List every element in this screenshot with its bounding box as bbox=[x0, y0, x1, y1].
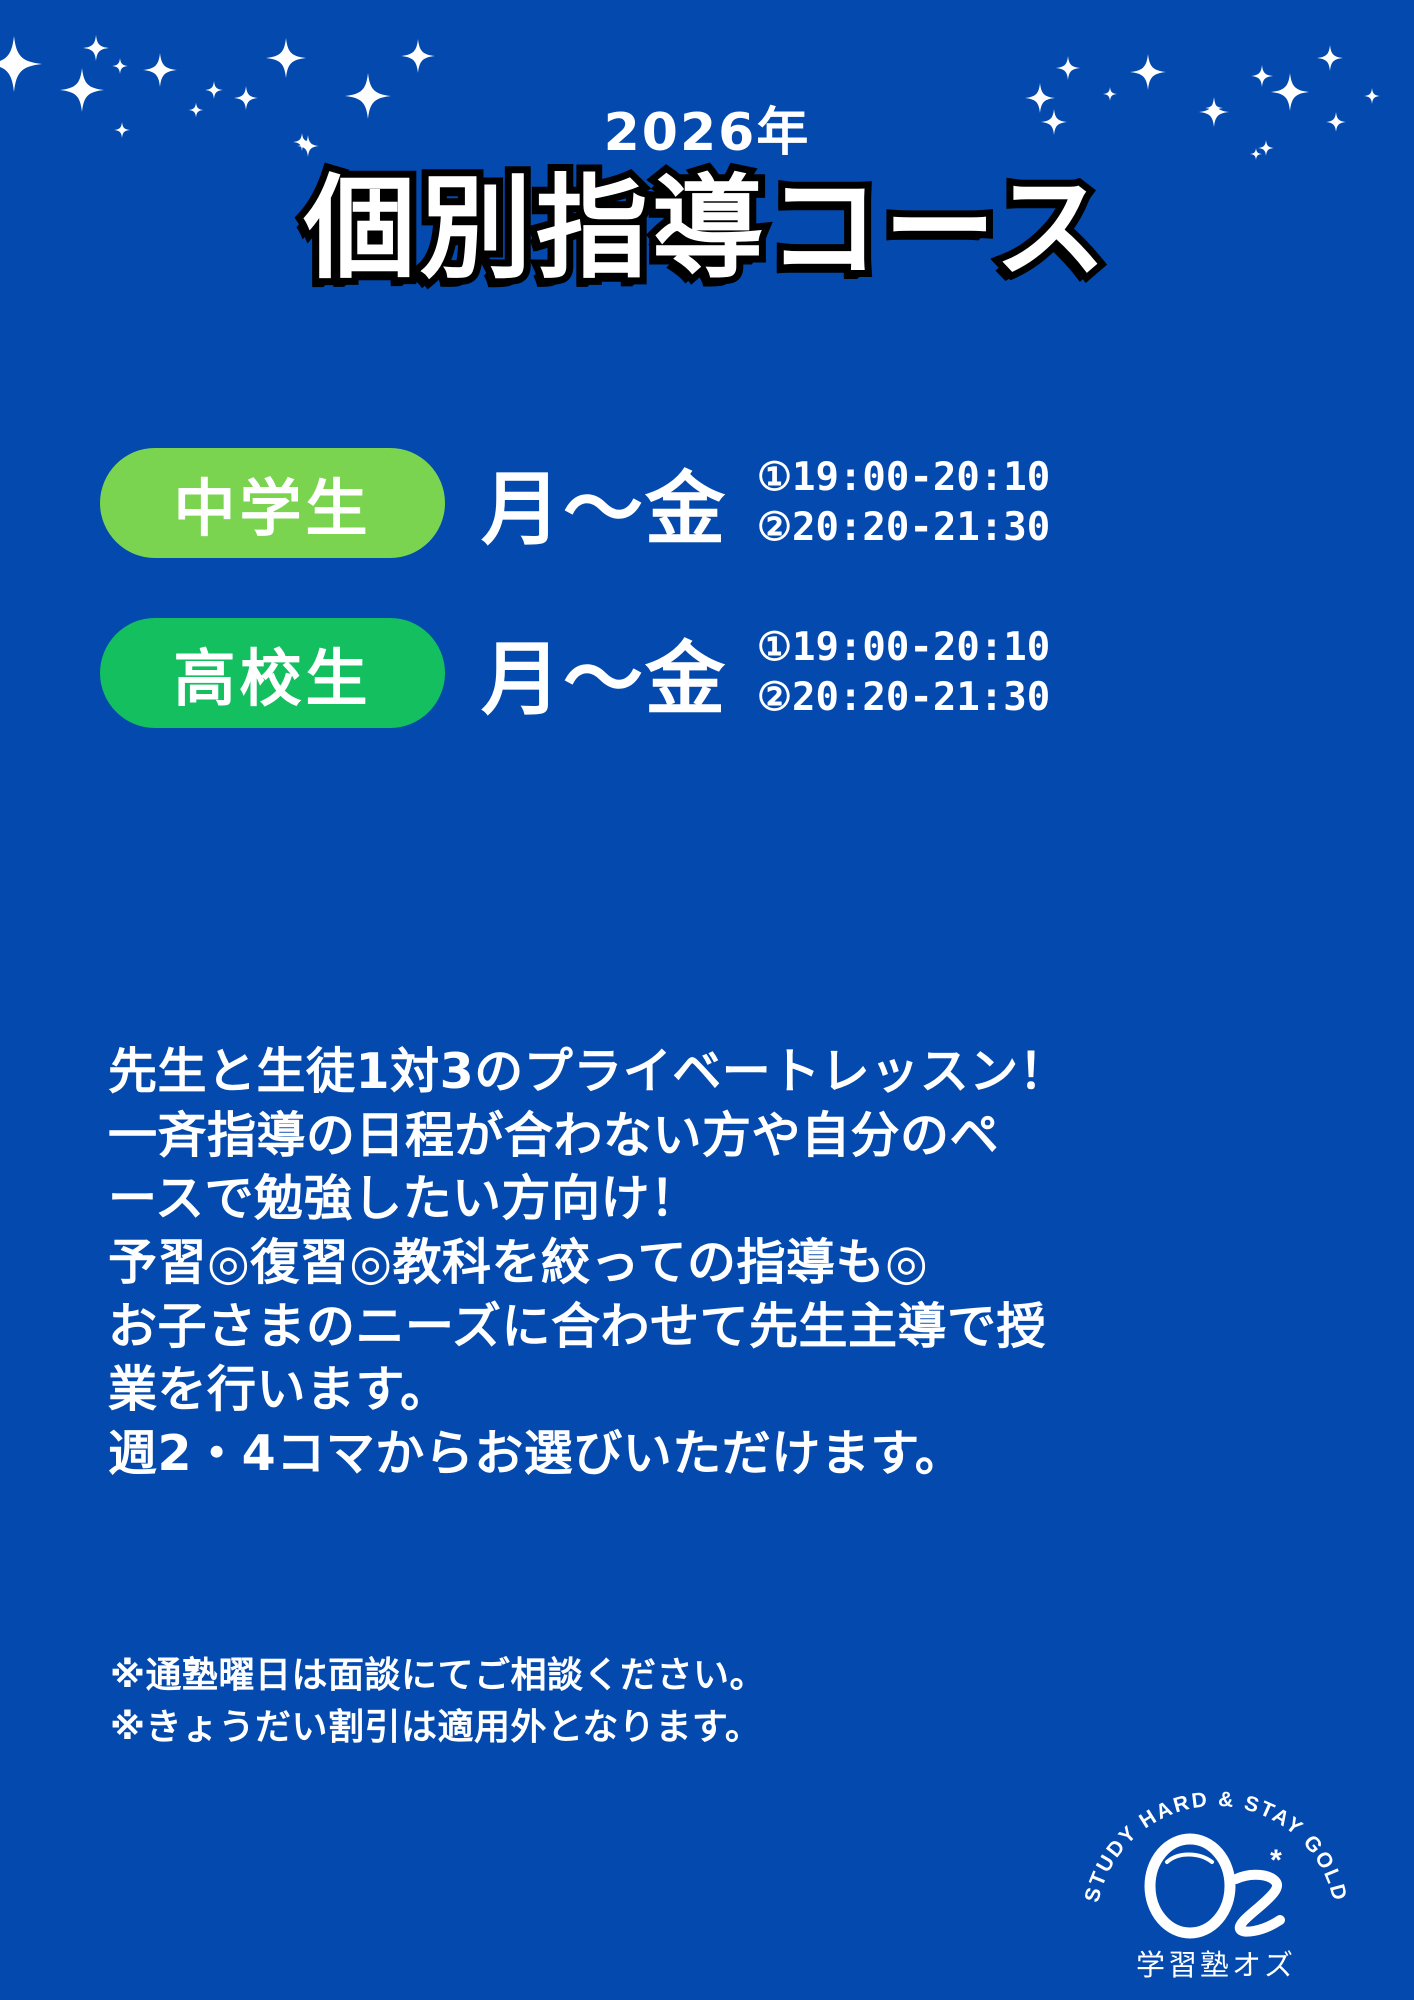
notes-block: ※通塾曜日は面談にてご相談ください。 ※きょうだい割引は適用外となります。 bbox=[110, 1650, 766, 1754]
description-line: お子さまのニーズに合わせて先生主導で授 bbox=[108, 1295, 1118, 1359]
time-slot-1: ①19:00-20:10 bbox=[757, 453, 1050, 503]
description-block: 先生と生徒1対3のプライベートレッスン！ 一斉指導の日程が合わない方や自分のペ … bbox=[108, 1040, 1118, 1486]
grade-pill-label: 高校生 bbox=[173, 628, 371, 718]
schedule-times-junior-high: ①19:00-20:10 ②20:20-21:30 bbox=[757, 453, 1050, 553]
time-slot-1: ①19:00-20:10 bbox=[757, 623, 1050, 673]
schedule-row-high-school: 高校生 月〜金 ①19:00-20:10 ②20:20-21:30 bbox=[0, 600, 1414, 745]
note-line: ※通塾曜日は面談にてご相談ください。 bbox=[110, 1650, 766, 1702]
description-line: 業を行います。 bbox=[108, 1358, 1118, 1422]
grade-pill-junior-high: 中学生 bbox=[100, 448, 445, 558]
brand-logo: STUDY HARD & STAY GOLD * 学習塾オズ bbox=[1066, 1786, 1366, 1986]
schedule-days-high-school: 月〜金 bbox=[481, 615, 727, 731]
schedule-times-high-school: ①19:00-20:10 ②20:20-21:30 bbox=[757, 623, 1050, 723]
logo-name-jp: 学習塾オズ bbox=[1066, 1942, 1366, 1984]
schedule-row-junior-high: 中学生 月〜金 ①19:00-20:10 ②20:20-21:30 bbox=[0, 430, 1414, 575]
schedule-section: 中学生 月〜金 ①19:00-20:10 ②20:20-21:30 高校生 月〜… bbox=[0, 430, 1414, 770]
logo-asterisk-icon: * bbox=[1270, 1844, 1282, 1877]
schedule-days-junior-high: 月〜金 bbox=[481, 445, 727, 561]
time-slot-2: ②20:20-21:30 bbox=[757, 503, 1050, 553]
description-line: 予習◎復習◎教科を絞っての指導も◎ bbox=[108, 1231, 1118, 1295]
page-title: 個別指導コース bbox=[0, 168, 1414, 291]
description-line: 先生と生徒1対3のプライベートレッスン！ bbox=[108, 1040, 1118, 1104]
time-slot-2: ②20:20-21:30 bbox=[757, 673, 1050, 723]
logo-monogram-icon bbox=[1150, 1839, 1280, 1933]
description-line: ースで勉強したい方向け！ bbox=[108, 1167, 1118, 1231]
description-line: 一斉指導の日程が合わない方や自分のペ bbox=[108, 1104, 1118, 1168]
year-label: 2026年 bbox=[0, 90, 1414, 165]
description-line: 週2・4コマからお選びいただけます。 bbox=[108, 1422, 1118, 1486]
grade-pill-high-school: 高校生 bbox=[100, 618, 445, 728]
grade-pill-label: 中学生 bbox=[173, 458, 371, 548]
note-line: ※きょうだい割引は適用外となります。 bbox=[110, 1702, 766, 1754]
